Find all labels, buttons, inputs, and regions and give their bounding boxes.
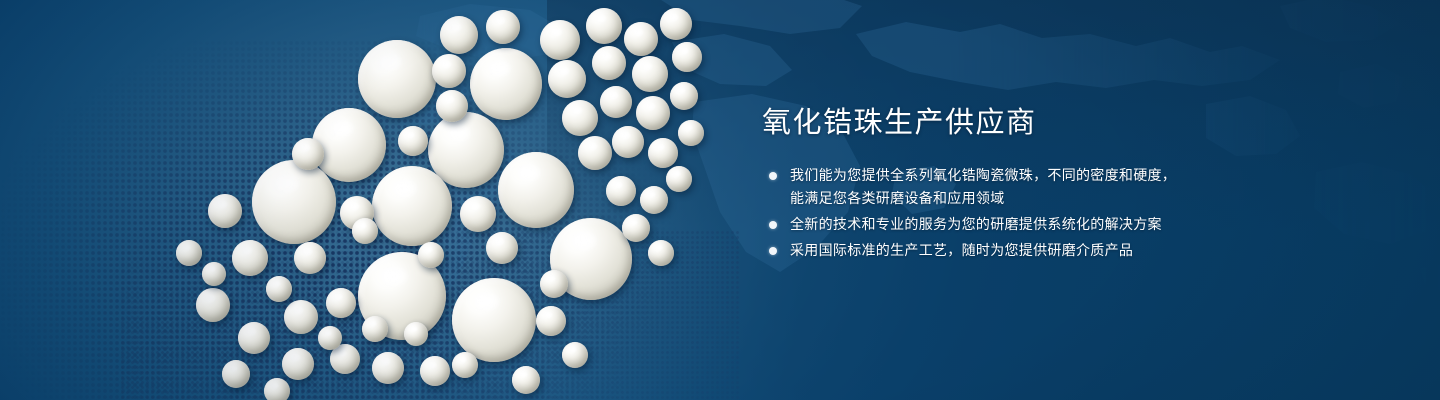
bullet-dot-icon	[769, 247, 777, 255]
bullet-text-line1: 全新的技术和专业的服务为您的研磨提供系统化的解决方案	[790, 216, 1162, 232]
list-item: 全新的技术和专业的服务为您的研磨提供系统化的解决方案	[762, 213, 1282, 236]
banner-text-block: 氧化锆珠生产供应商 我们能为您提供全系列氧化锆陶瓷微珠，不同的密度和硬度， 能满…	[762, 104, 1282, 265]
hero-banner: 氧化锆珠生产供应商 我们能为您提供全系列氧化锆陶瓷微珠，不同的密度和硬度， 能满…	[0, 0, 1440, 400]
list-item: 采用国际标准的生产工艺，随时为您提供研磨介质产品	[762, 239, 1282, 262]
bullet-text-line1: 采用国际标准的生产工艺，随时为您提供研磨介质产品	[790, 242, 1133, 258]
bullet-text-line1: 我们能为您提供全系列氧化锆陶瓷微珠，不同的密度和硬度，	[790, 167, 1176, 183]
bullet-text-line2: 能满足您各类研磨设备和应用领域	[790, 187, 1282, 210]
banner-feature-list: 我们能为您提供全系列氧化锆陶瓷微珠，不同的密度和硬度， 能满足您各类研磨设备和应…	[762, 164, 1282, 262]
list-item: 我们能为您提供全系列氧化锆陶瓷微珠，不同的密度和硬度， 能满足您各类研磨设备和应…	[762, 164, 1282, 210]
banner-headline: 氧化锆珠生产供应商	[762, 104, 1282, 142]
bullet-dot-icon	[769, 221, 777, 229]
bullet-dot-icon	[769, 172, 777, 180]
